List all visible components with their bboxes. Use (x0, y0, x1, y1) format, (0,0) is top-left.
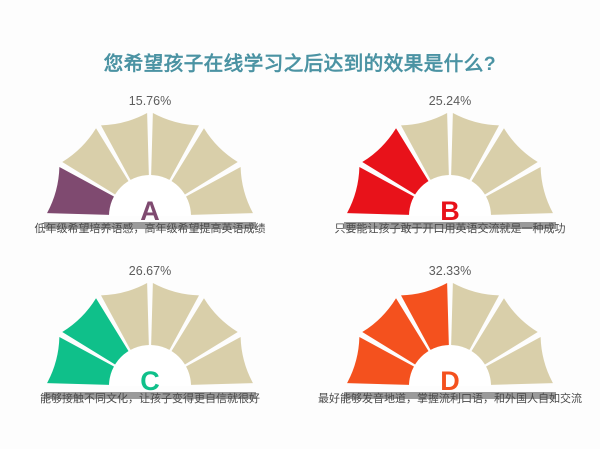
gauge-percent-b: 25.24% (300, 94, 600, 108)
gauge-card-a: 15.76% A 低年级希望培养语感，高年级希望提高英语成绩 (0, 92, 300, 257)
gauge-svg-d (336, 282, 564, 404)
gauge-percent-d: 32.33% (300, 264, 600, 278)
page-title: 您希望孩子在线学习之后达到的效果是什么? (0, 47, 600, 76)
gauge-card-d: 32.33% D 最好能够发音地道，掌握流利口语，和外国人自如交流 (300, 262, 600, 427)
gauge-chart-c: C (36, 282, 264, 404)
infographic-page: 您希望孩子在线学习之后达到的效果是什么? 15.76% A 低年级希望培养语感，… (0, 0, 600, 449)
gauge-chart-d: D (336, 282, 564, 404)
gauge-chart-a: A (36, 112, 264, 234)
gauge-percent-c: 26.67% (0, 264, 300, 278)
gauge-caption-b: 只要能让孩子敢于开口用英语交流就是一种成功 (300, 220, 600, 236)
gauge-caption-d: 最好能够发音地道，掌握流利口语，和外国人自如交流 (300, 390, 600, 406)
gauge-svg-c (36, 282, 264, 404)
gauge-caption-c: 能够接触不同文化，让孩子变得更自信就很好 (0, 390, 300, 406)
gauge-card-c: 26.67% C 能够接触不同文化，让孩子变得更自信就很好 (0, 262, 300, 427)
gauge-svg-b (336, 112, 564, 234)
gauge-chart-b: B (336, 112, 564, 234)
gauge-svg-a (36, 112, 264, 234)
gauge-percent-a: 15.76% (0, 94, 300, 108)
gauge-card-b: 25.24% B 只要能让孩子敢于开口用英语交流就是一种成功 (300, 92, 600, 257)
gauge-grid: 15.76% A 低年级希望培养语感，高年级希望提高英语成绩 25.24% B … (0, 92, 600, 422)
gauge-caption-a: 低年级希望培养语感，高年级希望提高英语成绩 (0, 220, 300, 236)
